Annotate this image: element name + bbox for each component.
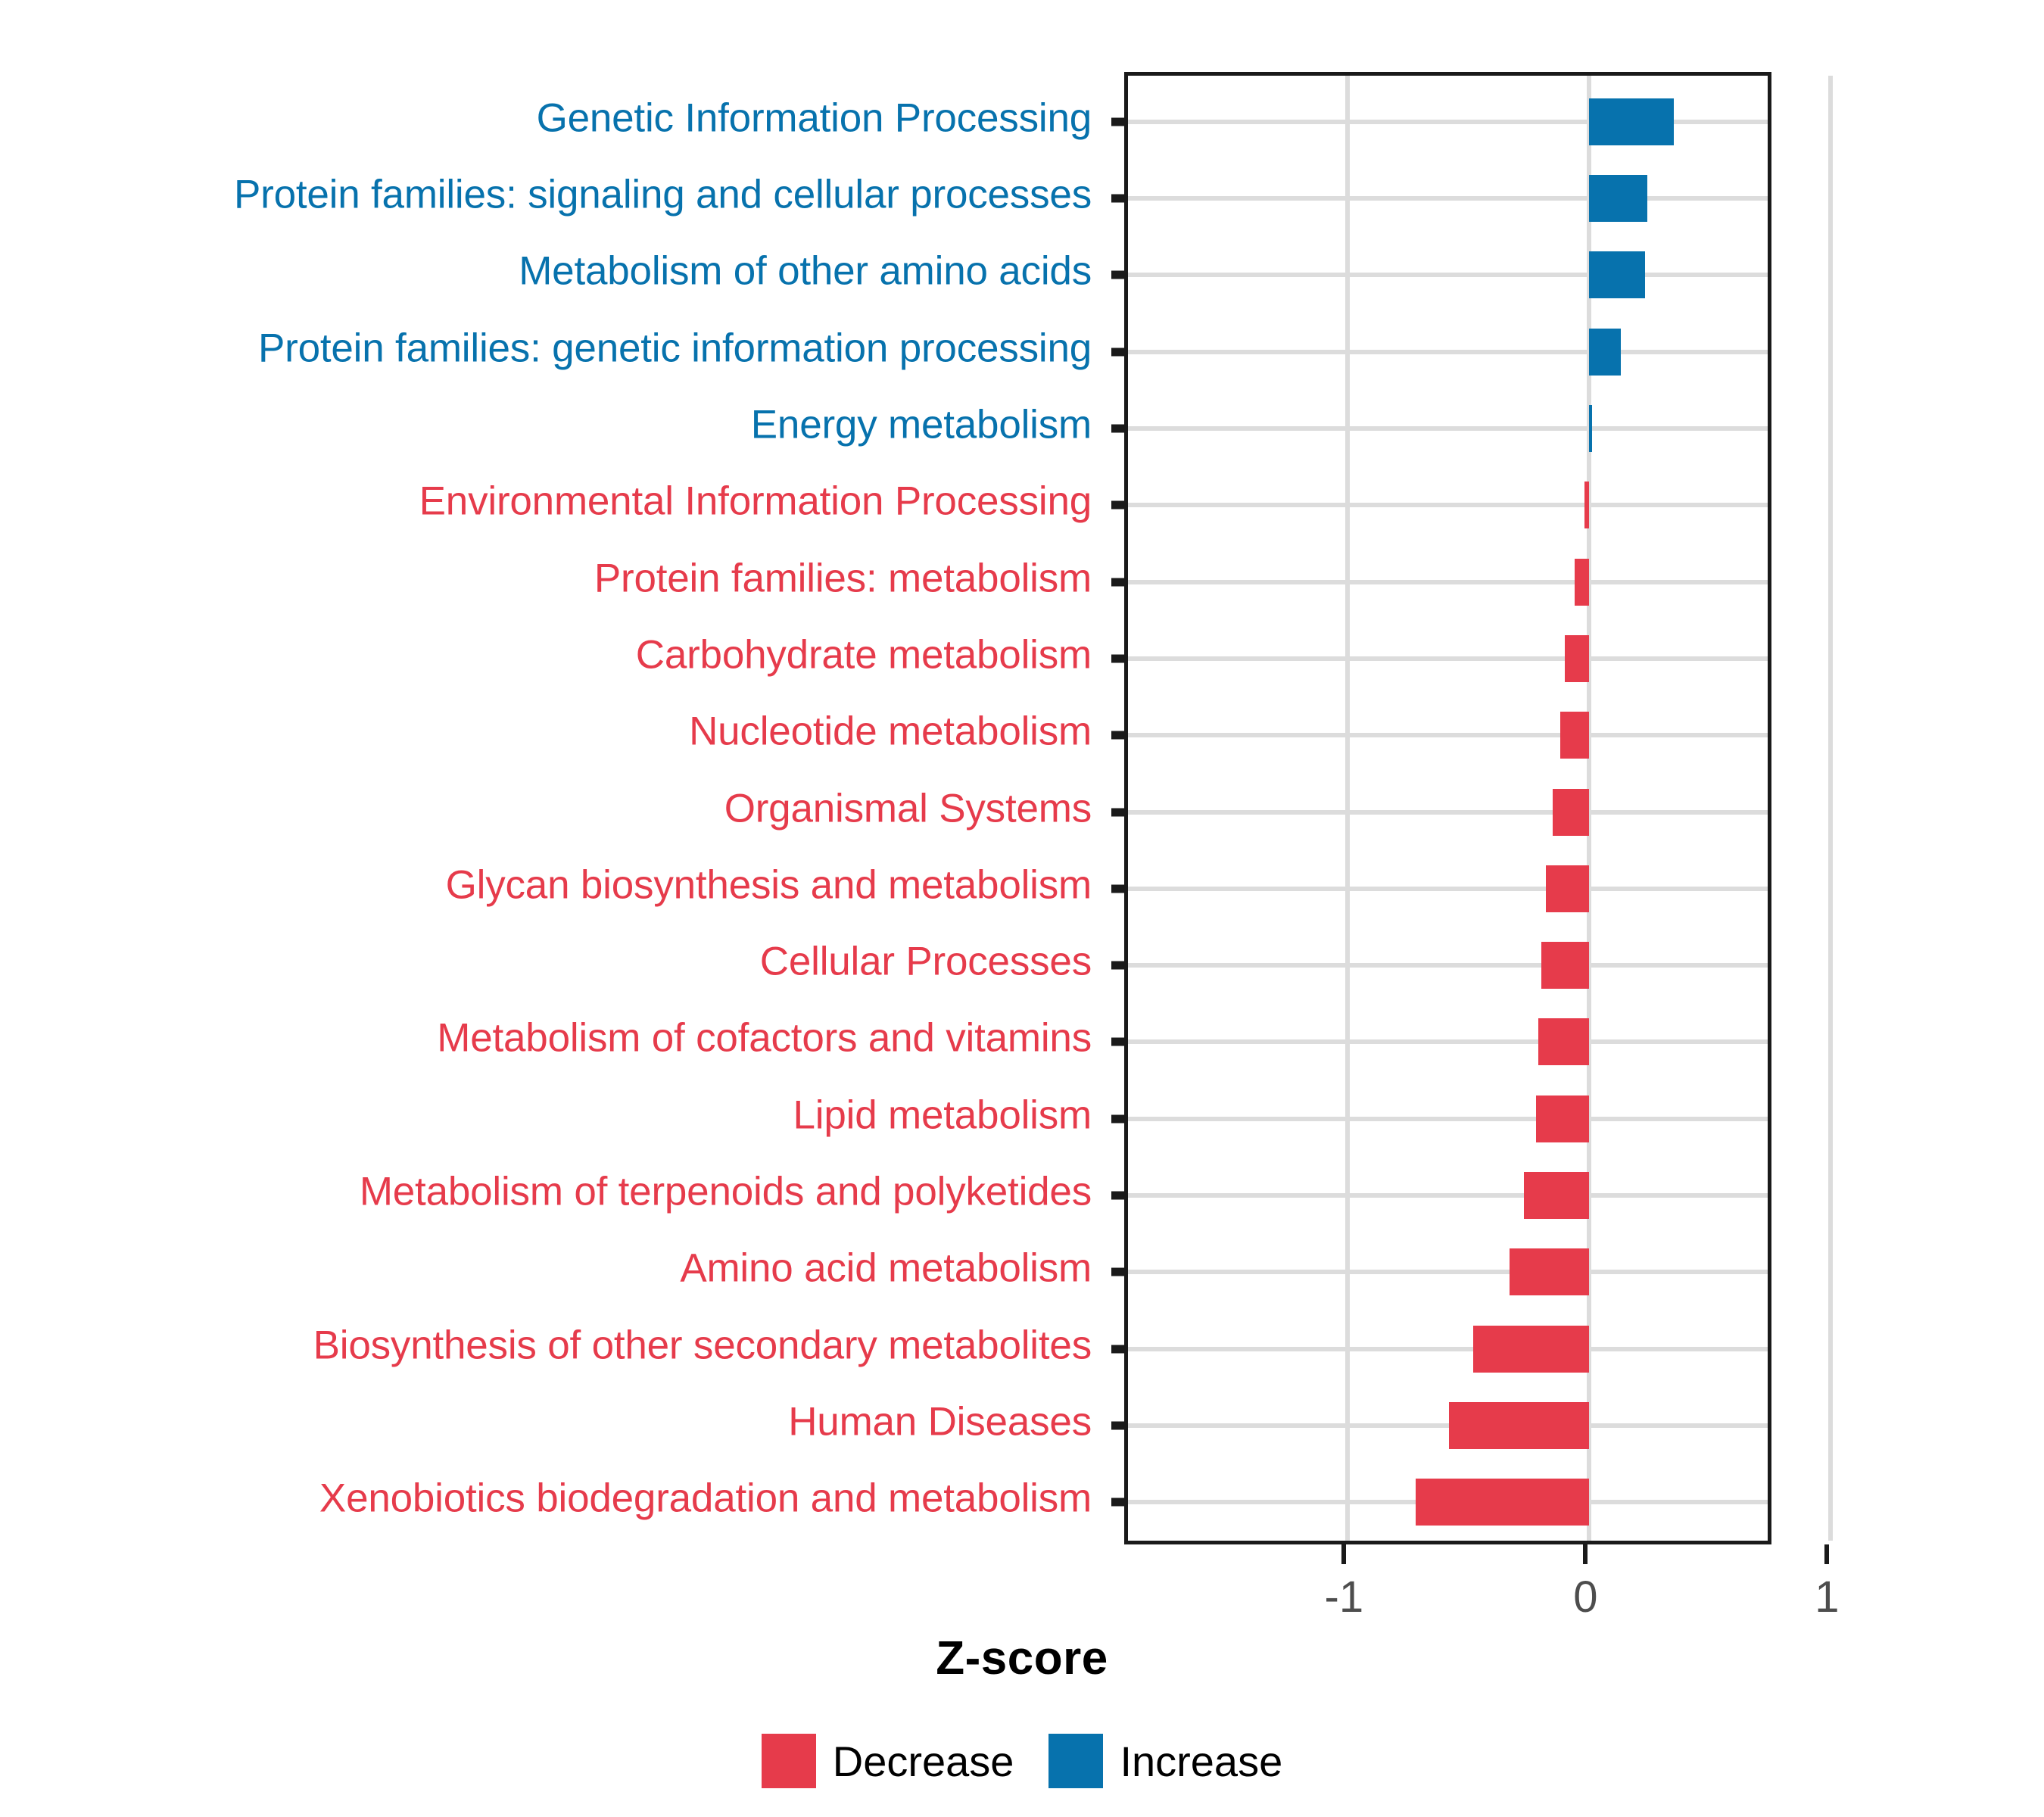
y-axis-tick: [1111, 195, 1128, 203]
horizontal-gridline: [1128, 580, 1768, 584]
y-axis-tick: [1111, 117, 1128, 126]
y-axis-category-label: Human Diseases: [788, 1401, 1092, 1441]
x-axis-tick-label: -1: [1325, 1572, 1364, 1622]
y-axis-tick: [1111, 1498, 1128, 1507]
y-axis-category-label: Biosynthesis of other secondary metaboli…: [313, 1325, 1092, 1365]
bar[interactable]: [1589, 98, 1674, 145]
y-axis-tick: [1111, 578, 1128, 586]
horizontal-gridline: [1128, 426, 1768, 431]
y-axis-category-label: Carbohydrate metabolism: [636, 634, 1092, 675]
legend-item[interactable]: Decrease: [762, 1734, 1014, 1788]
y-axis-tick: [1111, 654, 1128, 662]
y-axis-category-label: Xenobiotics biodegradation and metabolis…: [319, 1479, 1092, 1519]
y-axis-category-label: Protein families: genetic information pr…: [258, 328, 1092, 368]
y-axis-tick: [1111, 424, 1128, 432]
y-axis-category-label: Nucleotide metabolism: [689, 712, 1092, 752]
legend-swatch-icon: [1048, 1734, 1103, 1788]
vertical-gridline: [1828, 76, 1833, 1541]
horizontal-gridline: [1128, 656, 1768, 661]
y-axis-category-label: Amino acid metabolism: [680, 1248, 1092, 1289]
y-axis-category-labels: Genetic Information ProcessingProtein fa…: [0, 72, 1113, 1544]
y-axis-category-label: Protein families: metabolism: [594, 558, 1092, 598]
bar[interactable]: [1546, 865, 1589, 912]
horizontal-gridline: [1128, 1039, 1768, 1044]
x-axis-tick-label: 0: [1573, 1572, 1597, 1622]
bar[interactable]: [1584, 482, 1589, 528]
x-axis-tick: [1824, 1544, 1829, 1564]
y-axis-category-label: Glycan biosynthesis and metabolism: [446, 865, 1092, 905]
y-axis-tick: [1111, 808, 1128, 816]
y-axis-tick: [1111, 501, 1128, 510]
horizontal-gridline: [1128, 503, 1768, 507]
vertical-gridline: [1345, 76, 1350, 1541]
bar[interactable]: [1541, 942, 1590, 989]
x-axis-title: Z-score: [0, 1632, 2044, 1685]
bar[interactable]: [1589, 251, 1644, 298]
y-axis-tick: [1111, 1268, 1128, 1276]
bar[interactable]: [1589, 329, 1620, 376]
chart-figure: Genetic Information ProcessingProtein fa…: [0, 0, 2044, 1817]
chart-legend: DecreaseIncrease: [0, 1734, 2044, 1788]
y-axis-category-label: Protein families: signaling and cellular…: [234, 175, 1092, 215]
y-axis-category-label: Metabolism of cofactors and vitamins: [437, 1018, 1092, 1058]
legend-label: Increase: [1120, 1737, 1282, 1786]
horizontal-gridline: [1128, 1423, 1768, 1428]
bar[interactable]: [1510, 1248, 1589, 1295]
legend-swatch-icon: [762, 1734, 816, 1788]
bar[interactable]: [1553, 789, 1589, 836]
y-axis-category-label: Metabolism of other amino acids: [519, 251, 1092, 291]
y-axis-tick: [1111, 961, 1128, 970]
plot-panel: [1124, 72, 1771, 1544]
bar[interactable]: [1560, 712, 1589, 759]
bar[interactable]: [1538, 1018, 1589, 1065]
horizontal-gridline: [1128, 1193, 1768, 1198]
bar[interactable]: [1416, 1479, 1590, 1526]
y-axis-tick: [1111, 1038, 1128, 1046]
horizontal-gridline: [1128, 1347, 1768, 1351]
horizontal-gridline: [1128, 1117, 1768, 1121]
bar[interactable]: [1589, 175, 1647, 222]
y-axis-category-label: Energy metabolism: [751, 404, 1092, 444]
bar[interactable]: [1536, 1095, 1589, 1142]
y-axis-category-label: Lipid metabolism: [793, 1095, 1092, 1135]
horizontal-gridline: [1128, 1270, 1768, 1274]
legend-label: Decrease: [833, 1737, 1014, 1786]
horizontal-gridline: [1128, 733, 1768, 737]
bar[interactable]: [1575, 559, 1589, 606]
y-axis-tick: [1111, 271, 1128, 279]
y-axis-category-label: Metabolism of terpenoids and polyketides: [360, 1172, 1092, 1212]
y-axis-tick: [1111, 731, 1128, 740]
horizontal-gridline: [1128, 810, 1768, 815]
x-axis-tick: [1583, 1544, 1588, 1564]
legend-item[interactable]: Increase: [1048, 1734, 1282, 1788]
bar[interactable]: [1449, 1402, 1589, 1449]
y-axis-tick: [1111, 884, 1128, 893]
y-axis-category-label: Genetic Information Processing: [537, 98, 1092, 138]
horizontal-gridline: [1128, 196, 1768, 201]
y-axis-tick: [1111, 1345, 1128, 1353]
bar[interactable]: [1524, 1172, 1589, 1219]
y-axis-category-label: Organismal Systems: [724, 788, 1092, 828]
x-axis-tick: [1341, 1544, 1346, 1564]
x-axis-tick-label: 1: [1815, 1572, 1839, 1622]
horizontal-gridline: [1128, 963, 1768, 968]
bar[interactable]: [1589, 405, 1591, 452]
y-axis-tick: [1111, 348, 1128, 356]
y-axis-tick: [1111, 1192, 1128, 1200]
y-axis-category-label: Environmental Information Processing: [419, 482, 1092, 522]
y-axis-tick: [1111, 1114, 1128, 1123]
y-axis-tick: [1111, 1421, 1128, 1429]
bar[interactable]: [1565, 635, 1589, 682]
horizontal-gridline: [1128, 350, 1768, 354]
bar[interactable]: [1473, 1326, 1589, 1373]
horizontal-gridline: [1128, 887, 1768, 891]
y-axis-category-label: Cellular Processes: [760, 942, 1092, 982]
horizontal-gridline: [1128, 273, 1768, 277]
